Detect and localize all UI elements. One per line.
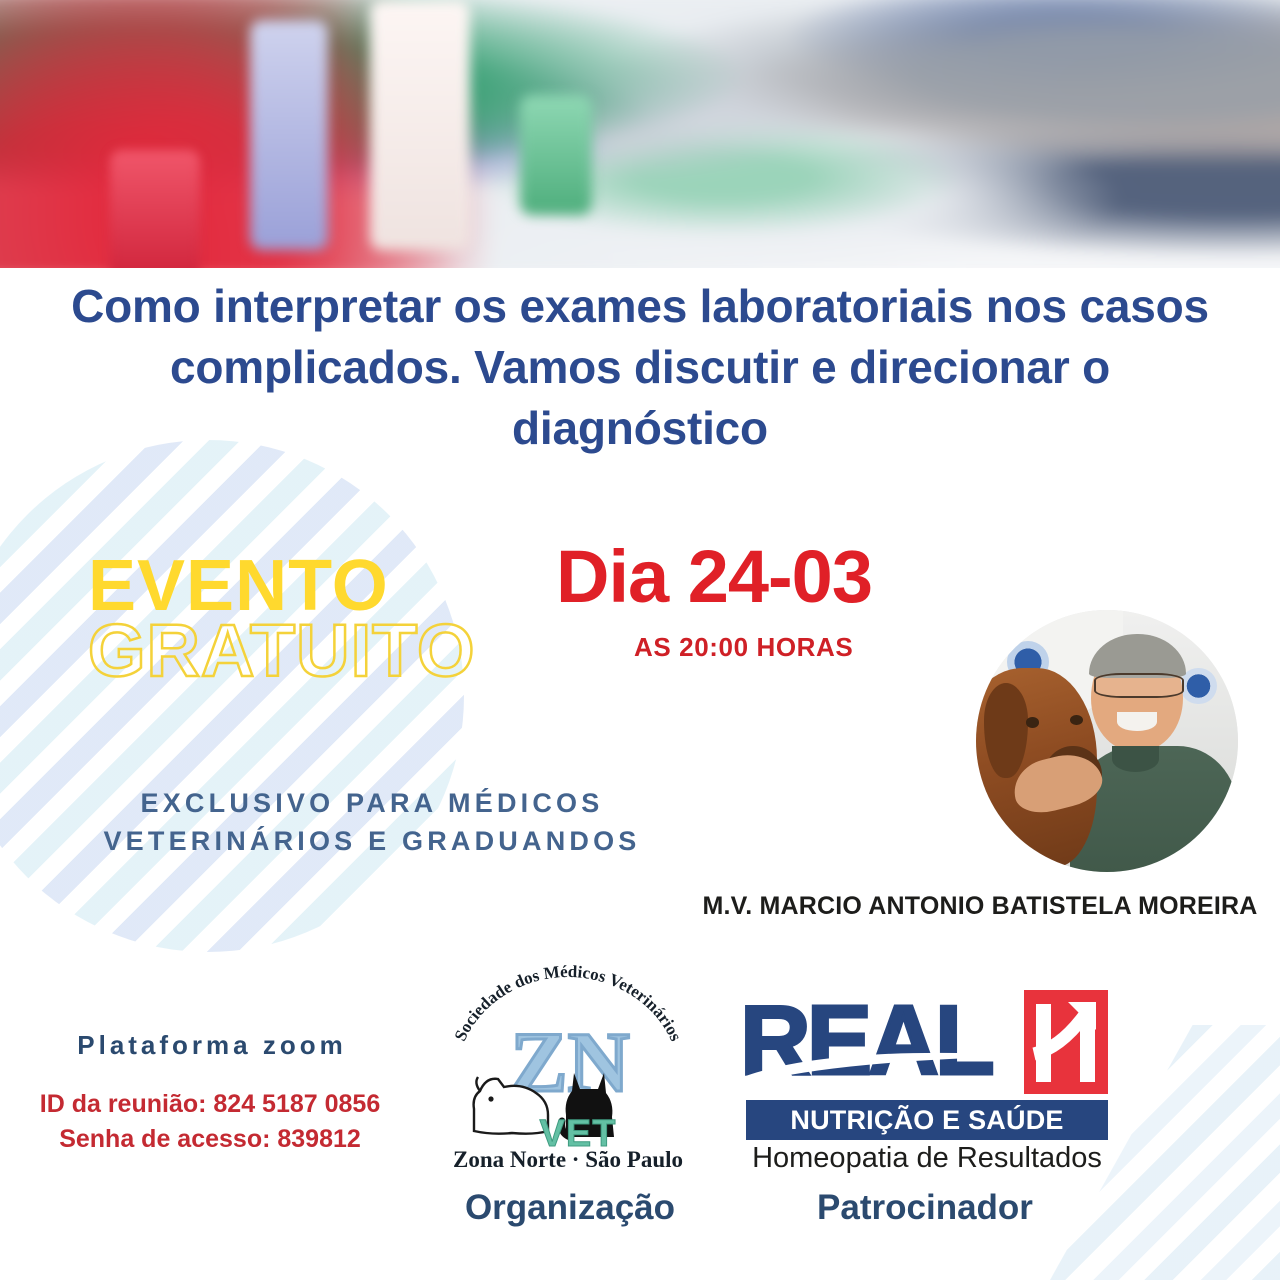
organizer-subtitle: Zona Norte · São Paulo	[440, 1147, 696, 1173]
audience-note: EXCLUSIVO PARA MÉDICOS VETERINÁRIOS E GR…	[72, 784, 672, 861]
laboratory-banner-photo	[0, 0, 1280, 268]
sponsor-tagline: Homeopatia de Resultados	[740, 1142, 1114, 1175]
banner-tube-red	[110, 150, 200, 268]
event-date: Dia 24-03	[556, 540, 872, 614]
avatar-wall-logo-right	[1180, 668, 1217, 705]
free-event-badge: EVENTO GRATUITO	[88, 552, 476, 686]
speaker-avatar	[976, 610, 1238, 872]
banner-tube-green	[520, 95, 592, 215]
meeting-passcode: Senha de acesso: 839812	[20, 1125, 400, 1154]
sponsor-logo: REAL NUTRIÇÃO E SAÚDE ANIMAL Homeopatia …	[740, 990, 1108, 1170]
platform-title: Plataforma zoom	[42, 1030, 382, 1061]
organizer-label: Organização	[420, 1188, 720, 1228]
avatar-dog-eye-left	[1026, 717, 1039, 727]
striped-circle-decoration	[0, 440, 464, 952]
banner-tube-purple	[250, 20, 328, 250]
meeting-id: ID da reunião: 824 5187 0856	[20, 1090, 400, 1119]
organizer-logo: Sociedade dos Médicos Veterinários ZN VE…	[440, 965, 696, 1180]
sponsor-label: Patrocinador	[740, 1188, 1110, 1228]
audience-note-line1: EXCLUSIVO PARA MÉDICOS	[72, 784, 672, 822]
sponsor-bar-text: NUTRIÇÃO E SAÚDE ANIMAL	[746, 1100, 1108, 1140]
banner-tube-white	[370, 0, 470, 250]
glasses-icon	[1094, 673, 1184, 698]
audience-note-line2: VETERINÁRIOS E GRADUANDOS	[72, 822, 672, 860]
avatar-man-smile	[1117, 712, 1156, 730]
page-title: Como interpretar os exames laboratoriais…	[40, 276, 1240, 460]
speaker-name: M.V. MARCIO ANTONIO BATISTELA MOREIRA	[700, 892, 1260, 921]
sponsor-swoosh-icon	[740, 1042, 1040, 1086]
sponsor-h-arrow-icon	[1024, 990, 1108, 1094]
badge-line-gratuito: GRATUITO	[88, 615, 476, 686]
event-time: AS 20:00 HORAS	[634, 632, 853, 663]
event-poster: Como interpretar os exames laboratoriais…	[0, 0, 1280, 1280]
